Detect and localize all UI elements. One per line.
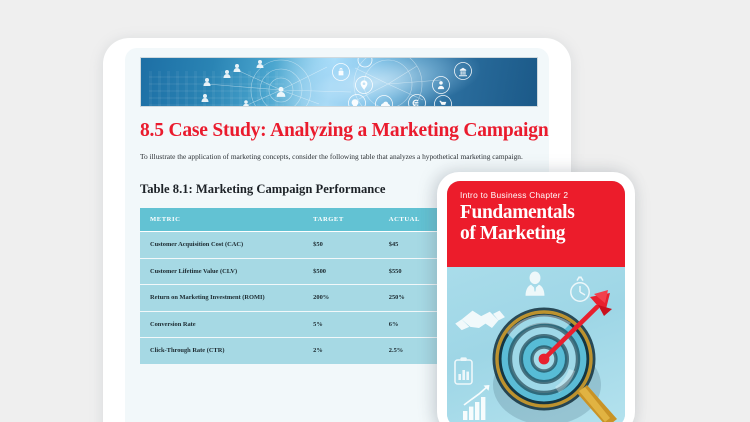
phone-title-line-2: of Marketing: [460, 223, 612, 244]
column-header-metric: METRIC: [140, 208, 303, 232]
briefcase-icon: [433, 77, 450, 94]
stopwatch-icon: [571, 277, 589, 301]
phone-title-line-1: Fundamentals: [460, 202, 612, 223]
column-header-target: TARGET: [303, 208, 379, 232]
hero-icon-overlay: [141, 58, 538, 107]
phone-device: Intro to Business Chapter 2 Fundamentals…: [437, 172, 635, 422]
hero-banner-image: [140, 57, 538, 107]
phone-book-title: Fundamentals of Marketing: [460, 202, 612, 245]
table-caption: Table 8.1: Marketing Campaign Performanc…: [140, 182, 385, 197]
cell-target: 2%: [303, 338, 379, 364]
cell-target: $50: [303, 232, 379, 259]
phone-title-banner: Intro to Business Chapter 2 Fundamentals…: [447, 181, 625, 267]
phone-screen: Intro to Business Chapter 2 Fundamentals…: [447, 181, 625, 422]
cell-target: 5%: [303, 312, 379, 339]
cell-metric: Click-Through Rate (CTR): [140, 338, 303, 364]
cell-target: $500: [303, 259, 379, 286]
bank-icon: [455, 63, 472, 80]
illustration-graphics: [447, 267, 625, 422]
clipboard-chart-icon: [455, 357, 472, 384]
chapter-kicker: Intro to Business Chapter 2: [460, 190, 612, 200]
cell-target: 200%: [303, 285, 379, 312]
bar-chart-growth-icon: [463, 385, 490, 420]
businessman-icon: [526, 272, 545, 296]
person-network-icon: [202, 60, 286, 107]
cover-illustration: [447, 267, 625, 422]
handshake-icon: [455, 311, 505, 330]
cell-metric: Conversion Rate: [140, 312, 303, 339]
cell-metric: Customer Lifetime Value (CLV): [140, 259, 303, 286]
cell-metric: Customer Acquisition Cost (CAC): [140, 232, 303, 259]
shopping-cart-icon: [435, 96, 452, 108]
screenshot-stage: 8.5 Case Study: Analyzing a Marketing Ca…: [0, 0, 750, 422]
cell-metric: Return on Marketing Investment (ROMI): [140, 285, 303, 312]
intro-paragraph: To illustrate the application of marketi…: [140, 151, 525, 164]
page-title: 8.5 Case Study: Analyzing a Marketing Ca…: [140, 120, 532, 142]
